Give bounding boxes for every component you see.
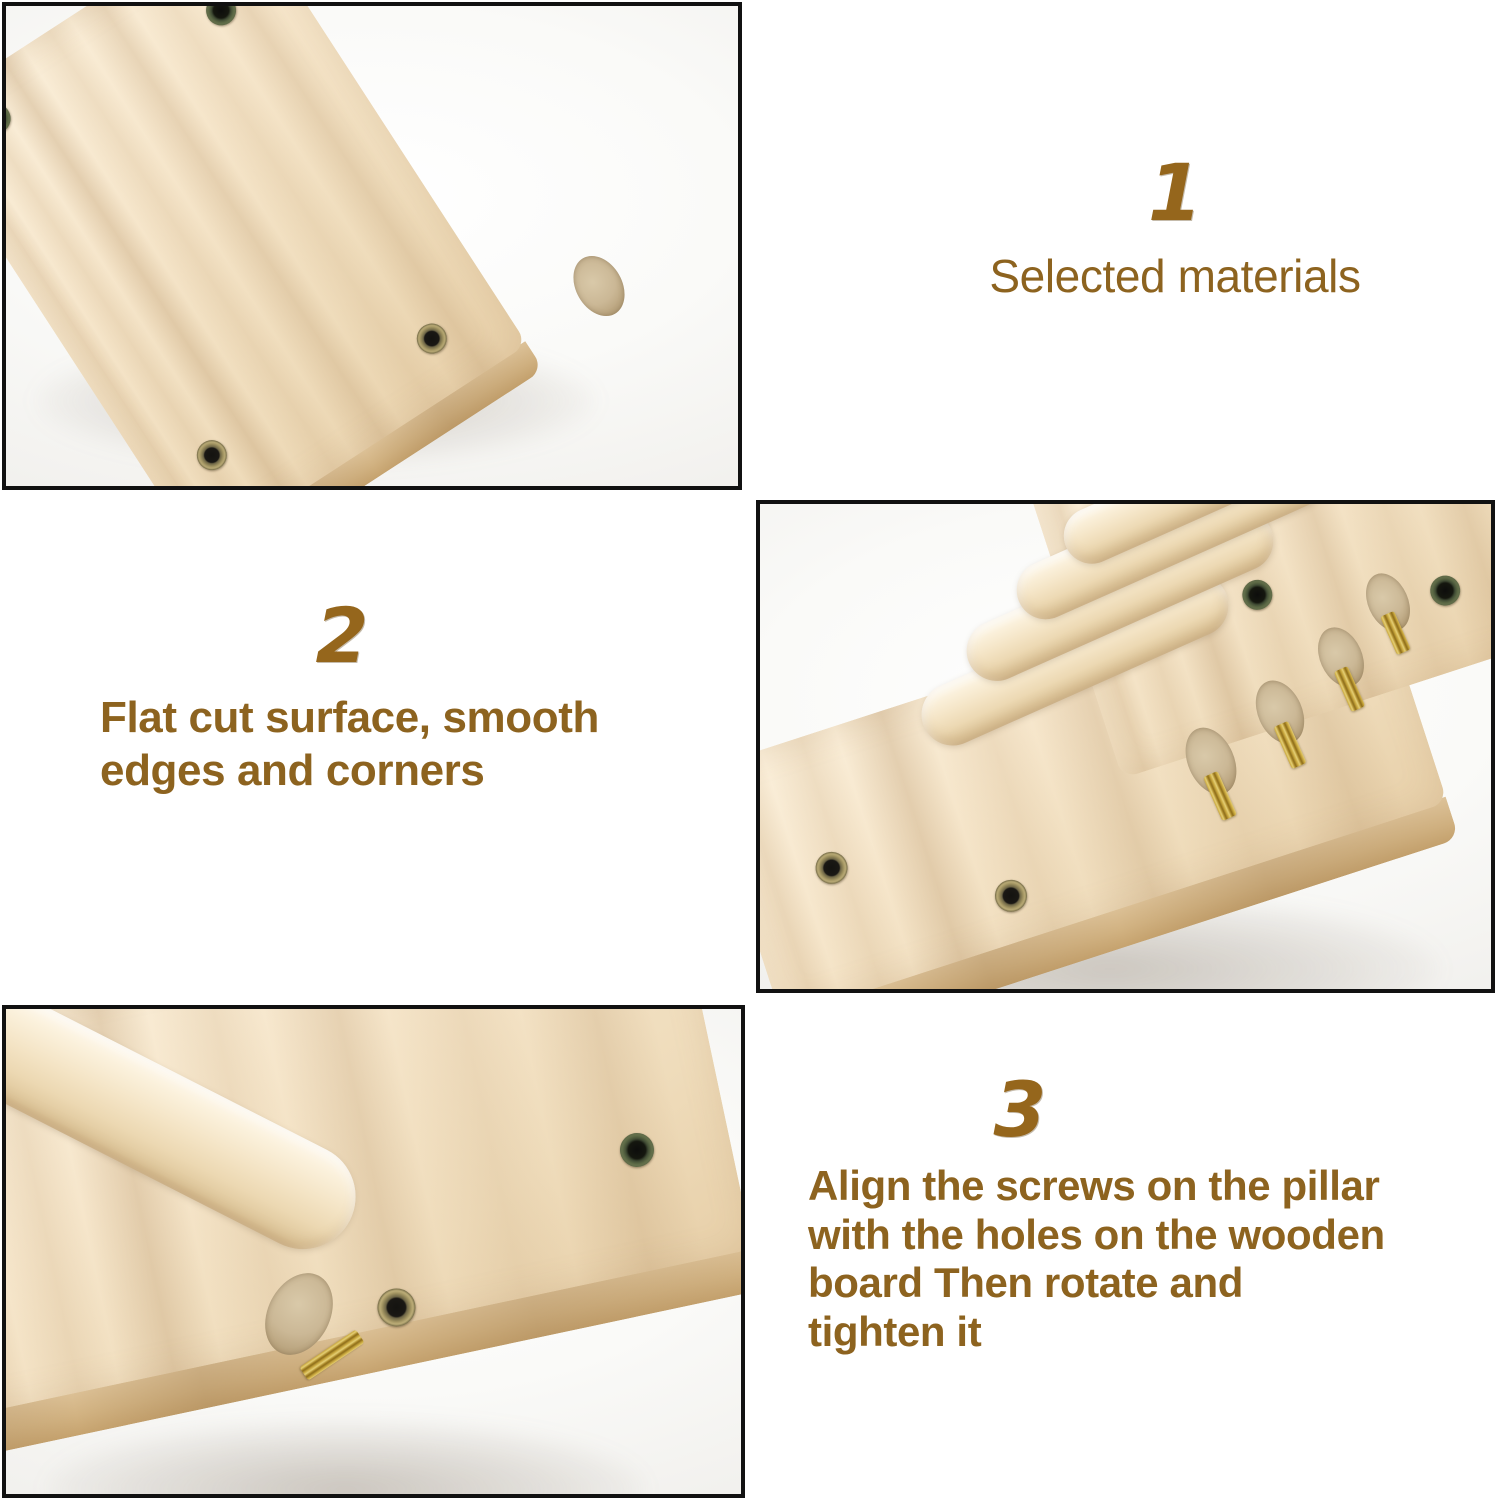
- step-1-number: 1: [850, 155, 1499, 233]
- step-3-caption-line: Align the screws on the pillar: [808, 1162, 1490, 1211]
- photo-panel-step-1: [2, 2, 742, 490]
- photo-selected-materials: [6, 6, 738, 486]
- photo-flat-cut-surface: [760, 504, 1491, 989]
- step-3-number: 3: [790, 1072, 1250, 1148]
- step-2-caption-line: Flat cut surface, smooth: [100, 692, 710, 745]
- step-2-caption: Flat cut surface, smooth edges and corne…: [62, 692, 710, 798]
- step-2-text-block: 2 Flat cut surface, smooth edges and cor…: [62, 598, 710, 798]
- step-3-caption: Align the screws on the pillar with the …: [790, 1162, 1490, 1357]
- photo-panel-step-3: [2, 1005, 745, 1498]
- step-3-text-block: 3 Align the screws on the pillar with th…: [790, 1072, 1490, 1357]
- dowel-end-face: [563, 247, 635, 325]
- step-3-caption-line: tighten it: [808, 1308, 1490, 1357]
- step-1-text-block: 1 Selected materials: [850, 155, 1499, 303]
- photo-align-screws: [6, 1009, 741, 1494]
- step-1-caption: Selected materials: [850, 249, 1499, 303]
- photo-panel-step-2: [756, 500, 1495, 993]
- step-2-number: 2: [62, 598, 622, 674]
- step-3-caption-line: with the holes on the wooden: [808, 1211, 1490, 1260]
- step-2-caption-line: edges and corners: [100, 745, 710, 798]
- step-3-caption-line: board Then rotate and: [808, 1259, 1490, 1308]
- board-shadow: [46, 1419, 646, 1498]
